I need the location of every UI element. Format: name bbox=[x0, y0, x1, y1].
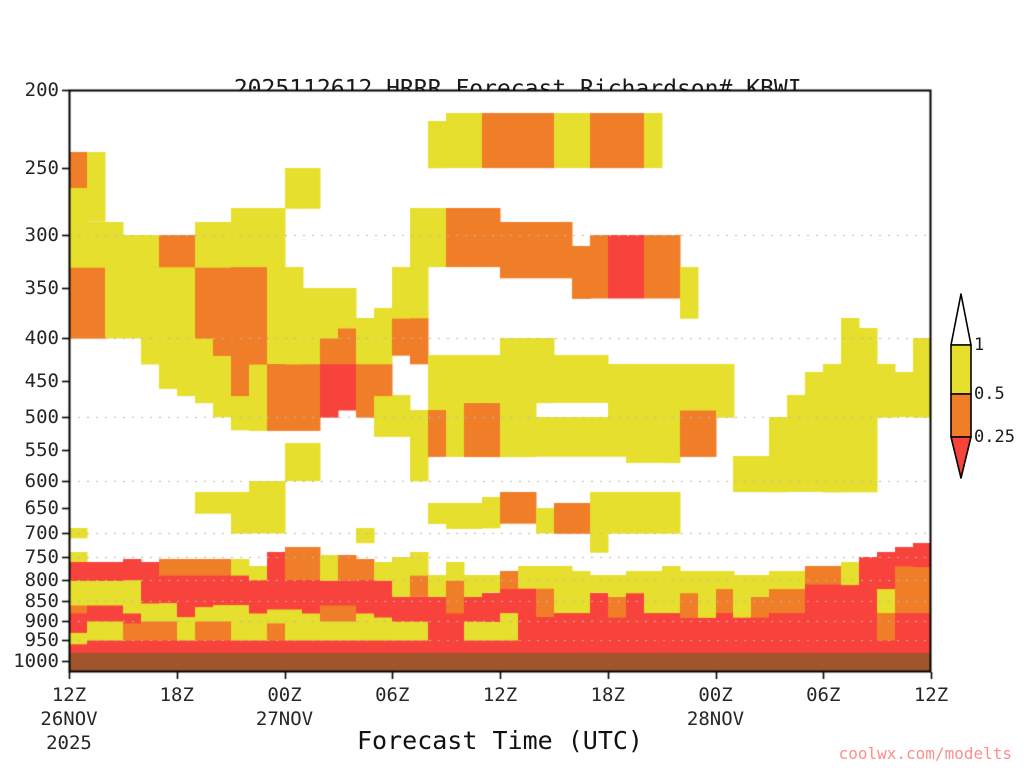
x-tick-time: 06Z bbox=[806, 684, 840, 706]
x-axis-tick-1: 18Z bbox=[160, 684, 194, 706]
colorbar-legend: 10.50.25 bbox=[944, 290, 1024, 480]
colorbar-segment-below-0.25 bbox=[951, 437, 971, 478]
x-axis-tick-7: 06Z bbox=[806, 684, 840, 706]
colorbar-segment-0.5-1 bbox=[951, 345, 971, 394]
x-axis-tick-6: 00Z28NOV bbox=[687, 684, 744, 730]
x-axis-tick-8: 12Z bbox=[914, 684, 948, 706]
x-axis-title-text: Forecast Time (UTC) bbox=[357, 726, 643, 755]
x-tick-time: 12Z bbox=[40, 684, 97, 706]
site-watermark: coolwx.com/modelts bbox=[839, 744, 1012, 763]
x-tick-time: 12Z bbox=[914, 684, 948, 706]
x-axis-tick-labels: 12Z26NOV202518Z00Z27NOV06Z12Z18Z00Z28NOV… bbox=[0, 0, 1024, 768]
x-tick-time: 18Z bbox=[160, 684, 194, 706]
x-axis-tick-5: 18Z bbox=[591, 684, 625, 706]
x-tick-time: 12Z bbox=[483, 684, 517, 706]
x-tick-time: 06Z bbox=[375, 684, 409, 706]
colorbar-segment-0.25-0.5 bbox=[951, 394, 971, 437]
x-tick-time: 18Z bbox=[591, 684, 625, 706]
x-axis-tick-4: 12Z bbox=[483, 684, 517, 706]
colorbar-label-1: 1 bbox=[974, 335, 984, 355]
colorbar-swatches bbox=[944, 290, 978, 480]
colorbar-label-0.25: 0.25 bbox=[974, 427, 1015, 447]
x-axis-tick-2: 00Z27NOV bbox=[256, 684, 313, 730]
x-axis-tick-3: 06Z bbox=[375, 684, 409, 706]
x-tick-time: 00Z bbox=[256, 684, 313, 706]
colorbar-segment-above-1 bbox=[951, 294, 971, 345]
x-tick-time: 00Z bbox=[687, 684, 744, 706]
chart-page: 2025112612 HRRR Forecast Richardson# KBW… bbox=[0, 0, 1024, 768]
colorbar-label-0.5: 0.5 bbox=[974, 384, 1005, 404]
